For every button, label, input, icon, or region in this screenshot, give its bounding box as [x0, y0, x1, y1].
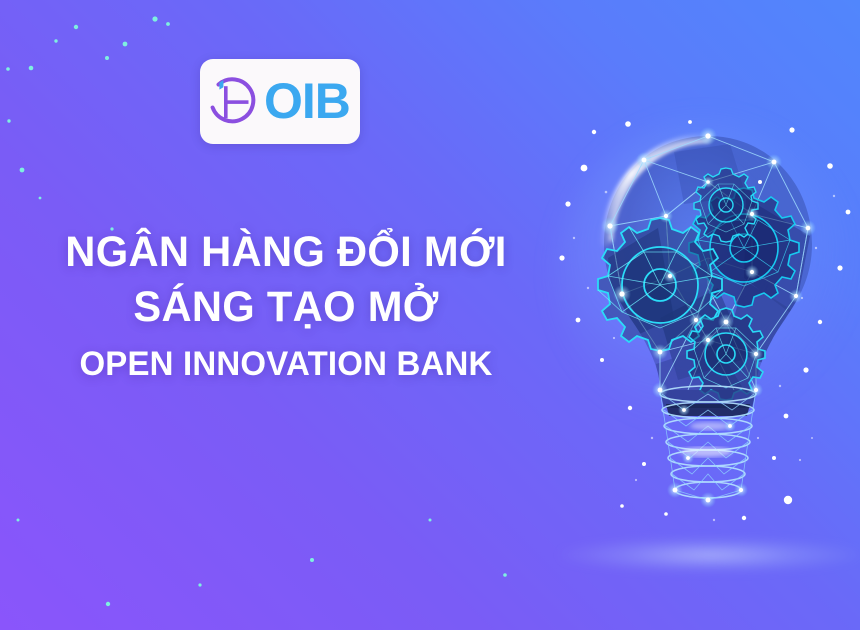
oib-wordmark: OIB [264, 73, 356, 131]
headline-line-3: OPEN INNOVATION BANK [20, 336, 552, 392]
oib-circle-mark-icon [204, 73, 262, 131]
headline-line-1: NGÂN HÀNG ĐỔI MỚI [20, 226, 552, 278]
wireframe-lightbulb-illustration [548, 108, 860, 528]
oib-logo: OIB [200, 59, 360, 144]
promotional-banner: OIB NGÂN HÀNG ĐỔI MỚI SÁNG TẠO MỞ OPEN I… [0, 0, 860, 630]
svg-text:OIB: OIB [264, 73, 350, 129]
headline-line-2: SÁNG TẠO MỞ [20, 278, 552, 336]
headline-block: NGÂN HÀNG ĐỔI MỚI SÁNG TẠO MỞ OPEN INNOV… [12, 226, 560, 392]
